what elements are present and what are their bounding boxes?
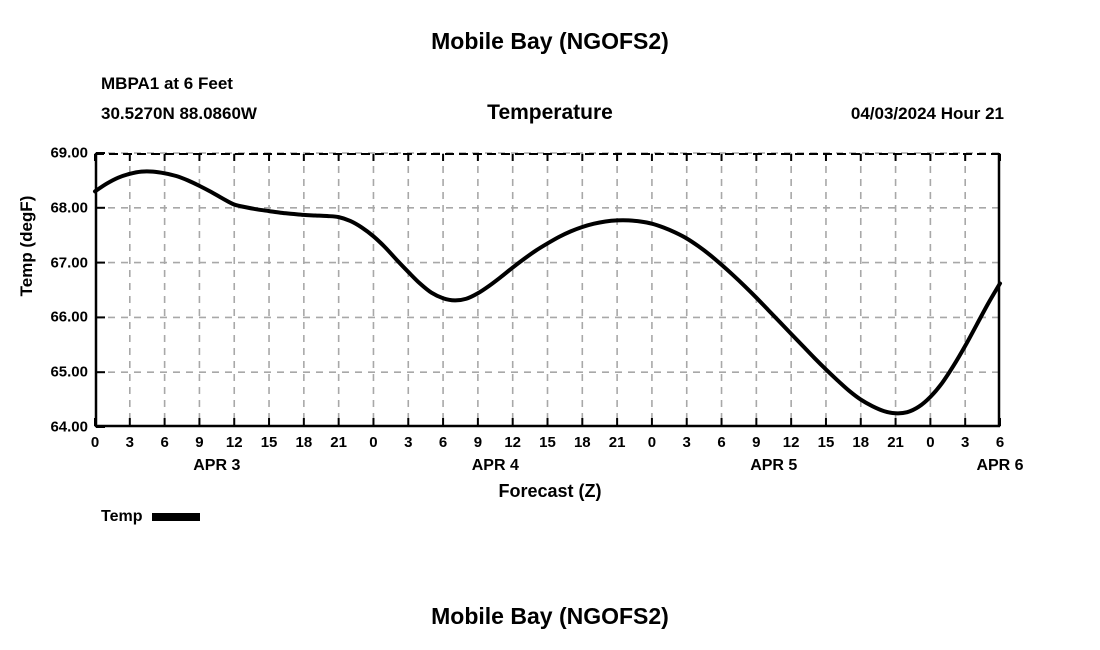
y-tick-label: 68.00 bbox=[50, 199, 88, 216]
x-tick-label: 6 bbox=[160, 434, 168, 451]
day-label: APR 3 bbox=[193, 457, 240, 475]
x-tick-label: 21 bbox=[887, 434, 904, 451]
day-label: APR 6 bbox=[976, 457, 1023, 475]
x-tick-label: 6 bbox=[996, 434, 1004, 451]
page-title: Mobile Bay (NGOFS2) bbox=[0, 28, 1100, 55]
legend-swatch-temp bbox=[152, 513, 200, 521]
y-tick-label: 64.00 bbox=[50, 419, 88, 436]
x-axis-tick-labels: 036912151821036912151821036912151821036 bbox=[95, 434, 1000, 454]
footer-title: Mobile Bay (NGOFS2) bbox=[0, 603, 1100, 630]
legend: Temp bbox=[101, 508, 200, 526]
chart-page: Mobile Bay (NGOFS2) MBPA1 at 6 Feet 30.5… bbox=[0, 0, 1100, 650]
x-tick-label: 21 bbox=[609, 434, 626, 451]
x-tick-label: 3 bbox=[961, 434, 969, 451]
x-tick-label: 3 bbox=[404, 434, 412, 451]
x-tick-label: 18 bbox=[574, 434, 591, 451]
x-tick-label: 18 bbox=[296, 434, 313, 451]
x-tick-label: 0 bbox=[91, 434, 99, 451]
x-tick-label: 0 bbox=[648, 434, 656, 451]
x-tick-label: 9 bbox=[752, 434, 760, 451]
legend-label-temp: Temp bbox=[101, 508, 142, 526]
x-tick-label: 6 bbox=[717, 434, 725, 451]
x-tick-label: 0 bbox=[926, 434, 934, 451]
y-axis-tick-labels: 69.0068.0067.0066.0065.0064.00 bbox=[33, 153, 88, 427]
station-name-label: MBPA1 at 6 Feet bbox=[101, 74, 233, 94]
x-tick-label: 18 bbox=[852, 434, 869, 451]
day-label: APR 5 bbox=[750, 457, 797, 475]
x-tick-label: 15 bbox=[539, 434, 556, 451]
x-axis-day-labels: APR 3APR 4APR 5APR 6 bbox=[95, 457, 1000, 479]
x-tick-label: 6 bbox=[439, 434, 447, 451]
x-tick-label: 12 bbox=[504, 434, 521, 451]
x-tick-label: 9 bbox=[474, 434, 482, 451]
y-tick-label: 66.00 bbox=[50, 309, 88, 326]
x-tick-label: 3 bbox=[126, 434, 134, 451]
y-tick-label: 69.00 bbox=[50, 145, 88, 162]
day-label: APR 4 bbox=[472, 457, 519, 475]
plot-frame-and-ticks bbox=[95, 153, 1000, 427]
x-tick-label: 12 bbox=[226, 434, 243, 451]
x-tick-label: 3 bbox=[683, 434, 691, 451]
x-tick-label: 12 bbox=[783, 434, 800, 451]
x-tick-label: 9 bbox=[195, 434, 203, 451]
y-tick-label: 67.00 bbox=[50, 254, 88, 271]
x-tick-label: 15 bbox=[261, 434, 278, 451]
y-tick-label: 65.00 bbox=[50, 364, 88, 381]
model-run-timestamp: 04/03/2024 Hour 21 bbox=[851, 104, 1004, 124]
x-tick-label: 21 bbox=[330, 434, 347, 451]
x-tick-label: 15 bbox=[818, 434, 835, 451]
x-axis-title: Forecast (Z) bbox=[0, 481, 1100, 502]
plot-area bbox=[95, 153, 1000, 427]
x-tick-label: 0 bbox=[369, 434, 377, 451]
